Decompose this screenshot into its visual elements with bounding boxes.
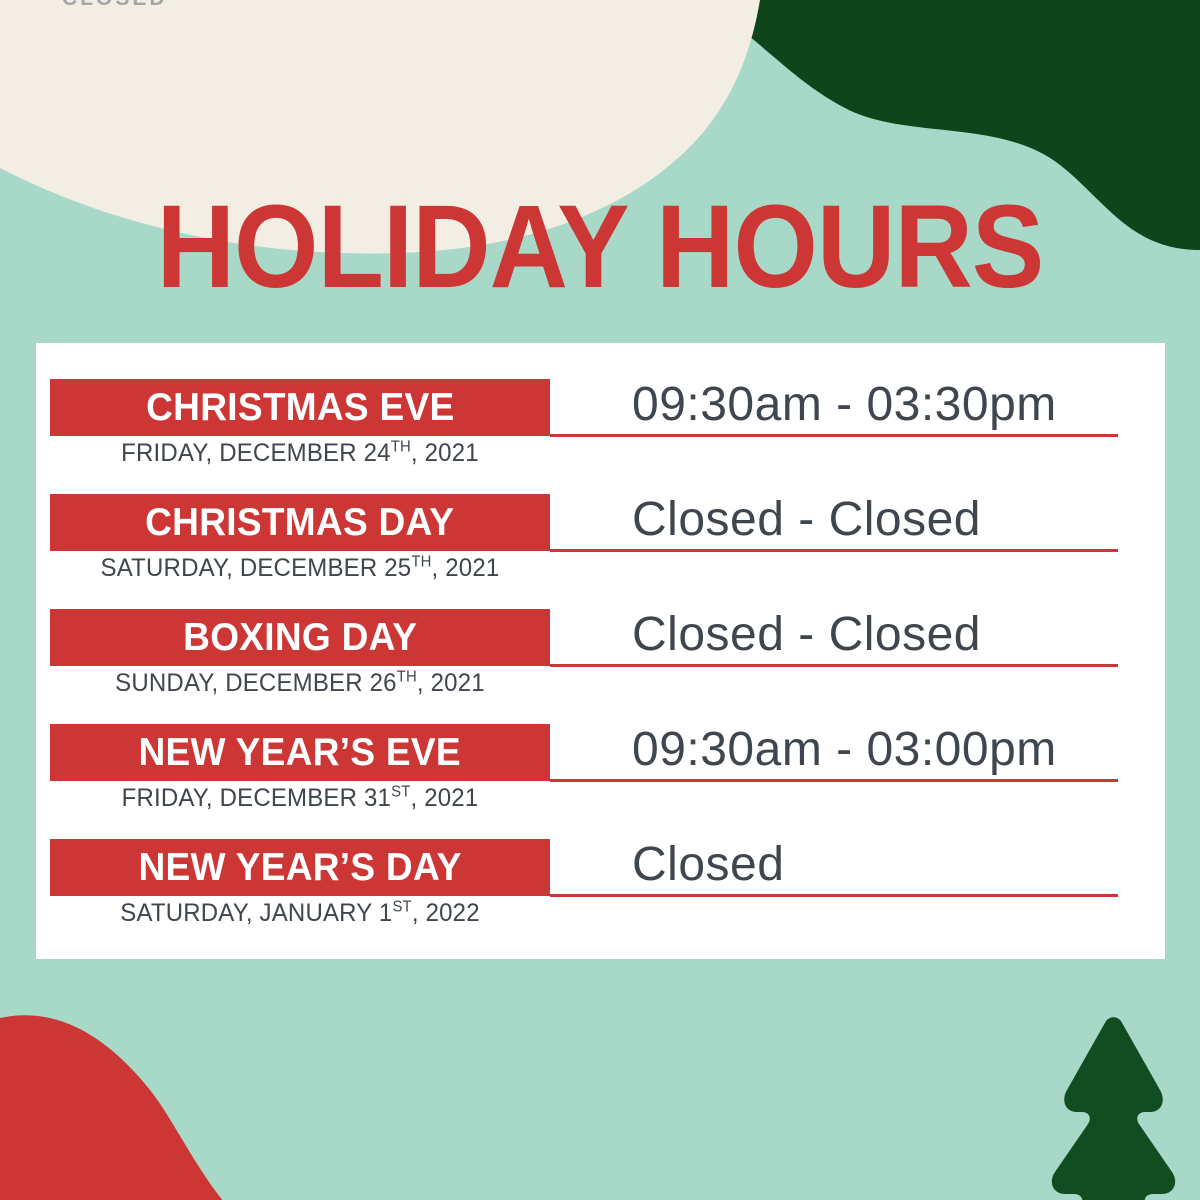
holiday-name-plate: NEW YEAR’S DAY: [50, 839, 550, 896]
table-row: NEW YEAR’S EVE FRIDAY, DECEMBER 31ST, 20…: [36, 724, 1165, 839]
holiday-date-weekday: SATURDAY, DECEMBER 25: [101, 554, 412, 582]
hours-card: CHRISTMAS EVE FRIDAY, DECEMBER 24TH, 202…: [36, 343, 1165, 959]
holiday-name: BOXING DAY: [183, 616, 417, 660]
row-divider: [550, 549, 1118, 552]
holiday-date-year: , 2021: [411, 439, 479, 467]
holiday-name-plate: CHRISTMAS EVE: [50, 379, 550, 436]
holiday-date: SATURDAY, DECEMBER 25TH, 2021: [60, 554, 540, 583]
holiday-name: CHRISTMAS DAY: [145, 501, 454, 545]
holiday-name-plate: NEW YEAR’S EVE: [50, 724, 550, 781]
holiday-date: FRIDAY, DECEMBER 31ST, 2021: [60, 784, 540, 813]
holiday-date: SATURDAY, JANUARY 1ST, 2022: [60, 899, 540, 928]
table-row: NEW YEAR’S DAY SATURDAY, JANUARY 1ST, 20…: [36, 839, 1165, 954]
row-divider: [550, 779, 1118, 782]
holiday-hours: 09:30am - 03:00pm: [632, 722, 1057, 777]
page-title: HOLIDAY HOURS: [48, 188, 1152, 306]
table-row: BOXING DAY SUNDAY, DECEMBER 26TH, 2021 C…: [36, 609, 1165, 724]
holiday-date-ordinal: TH: [391, 439, 411, 456]
holiday-name: NEW YEAR’S DAY: [138, 846, 461, 890]
holiday-name: NEW YEAR’S EVE: [139, 731, 461, 775]
holiday-date-weekday: FRIDAY, DECEMBER 24: [121, 439, 391, 467]
holiday-date-year: , 2022: [412, 899, 480, 927]
holiday-hours: 09:30am - 03:30pm: [632, 377, 1057, 432]
row-divider: [550, 894, 1118, 897]
holiday-date-ordinal: TH: [397, 669, 417, 686]
row-divider: [550, 664, 1118, 667]
holiday-hours: Closed - Closed: [632, 492, 981, 547]
holiday-date-weekday: SATURDAY, JANUARY 1: [120, 899, 392, 927]
holiday-date-weekday: FRIDAY, DECEMBER 31: [122, 784, 392, 812]
holiday-hours: Closed - Closed: [632, 607, 981, 662]
holiday-date: FRIDAY, DECEMBER 24TH, 2021: [60, 439, 540, 468]
holiday-name-plate: CHRISTMAS DAY: [50, 494, 550, 551]
holiday-date-ordinal: ST: [392, 899, 411, 916]
table-row: CHRISTMAS EVE FRIDAY, DECEMBER 24TH, 202…: [36, 379, 1165, 494]
holiday-date-ordinal: ST: [391, 784, 410, 801]
top-cut-text: CLOSED: [62, 0, 168, 11]
holiday-date-year: , 2021: [432, 554, 500, 582]
hours-rows: CHRISTMAS EVE FRIDAY, DECEMBER 24TH, 202…: [36, 343, 1165, 959]
holiday-name: CHRISTMAS EVE: [146, 386, 454, 430]
holiday-date-year: , 2021: [411, 784, 479, 812]
holiday-hours-poster: CLOSED HOLIDAY HOURS CHRISTMAS EVE FRIDA…: [0, 0, 1200, 1200]
holiday-date-year: , 2021: [417, 669, 485, 697]
row-divider: [550, 434, 1118, 437]
holiday-name-plate: BOXING DAY: [50, 609, 550, 666]
holiday-date-weekday: SUNDAY, DECEMBER 26: [115, 669, 397, 697]
holiday-hours: Closed: [632, 837, 784, 892]
holiday-date-ordinal: TH: [411, 554, 431, 571]
holiday-date: SUNDAY, DECEMBER 26TH, 2021: [60, 669, 540, 698]
table-row: CHRISTMAS DAY SATURDAY, DECEMBER 25TH, 2…: [36, 494, 1165, 609]
